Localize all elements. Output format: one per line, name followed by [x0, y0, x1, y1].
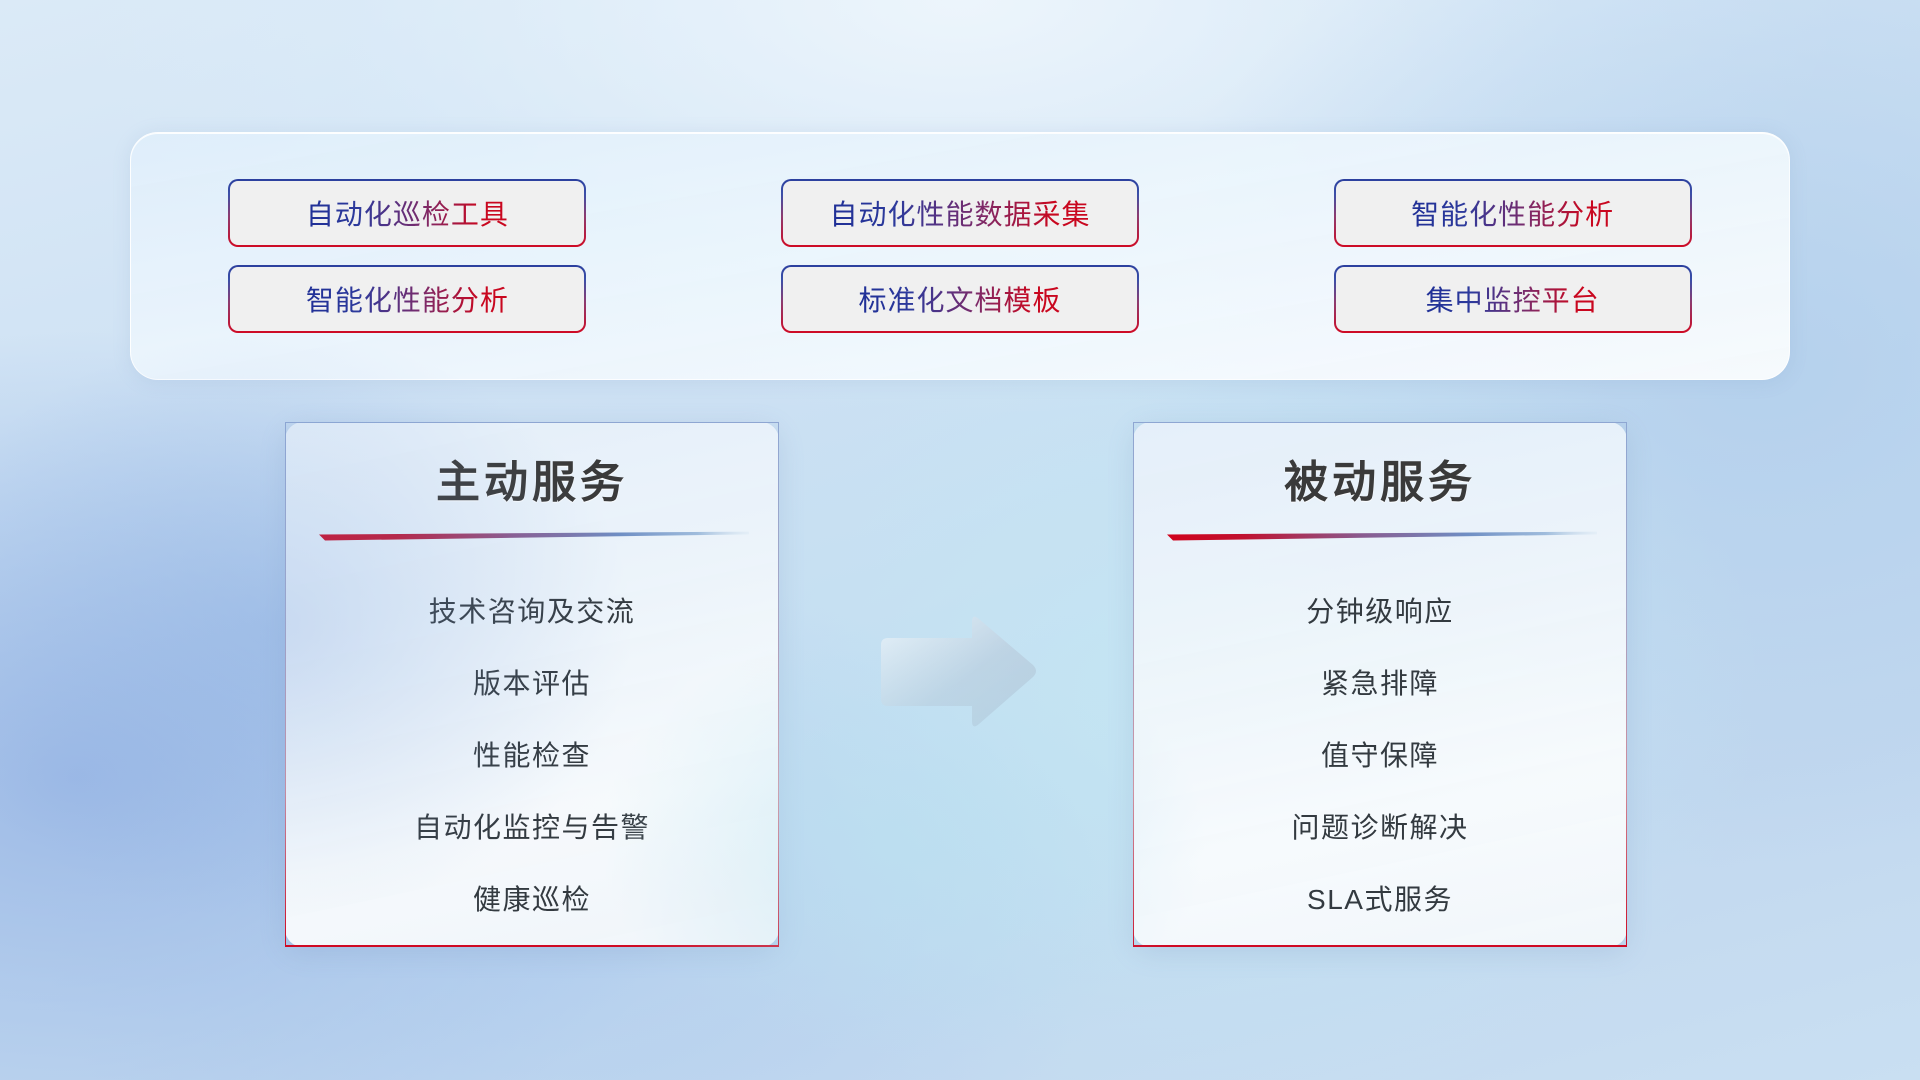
- capability-pill[interactable]: 自动化巡检工具: [228, 179, 586, 247]
- list-item: SLA式服务: [1307, 864, 1453, 936]
- capability-pill-label: 自动化性能数据采集: [829, 193, 1090, 233]
- list-item: 性能检查: [473, 720, 591, 792]
- capability-pill-label: 标准化文档模板: [858, 279, 1061, 319]
- list-item: 版本评估: [473, 648, 591, 720]
- active-service-card-inner: 主动服务: [286, 423, 778, 945]
- active-service-card: 主动服务: [285, 422, 779, 947]
- list-item: 值守保障: [1321, 720, 1439, 792]
- passive-service-card: 被动服务: [1133, 422, 1627, 947]
- slide-canvas: 自动化巡检工具 自动化性能数据采集 智能化性能分析 智能化性能分析 标准化文档模…: [0, 0, 1920, 1080]
- list-item: 问题诊断解决: [1291, 792, 1468, 864]
- list-item: 紧急排障: [1321, 648, 1439, 720]
- right-arrow-icon: [875, 612, 1040, 732]
- passive-service-title: 被动服务: [1284, 457, 1476, 510]
- capabilities-panel: 自动化巡检工具 自动化性能数据采集 智能化性能分析 智能化性能分析 标准化文档模…: [130, 132, 1790, 380]
- list-item: 分钟级响应: [1306, 576, 1454, 648]
- capability-pill[interactable]: 智能化性能分析: [1334, 179, 1692, 247]
- capability-pill-label: 智能化性能分析: [1411, 193, 1614, 233]
- capability-row-1: 自动化巡检工具 自动化性能数据采集 智能化性能分析: [131, 170, 1789, 256]
- active-service-title: 主动服务: [436, 457, 628, 510]
- list-item: 技术咨询及交流: [429, 576, 636, 648]
- capability-pill[interactable]: 标准化文档模板: [781, 265, 1139, 333]
- capability-row-2: 智能化性能分析 标准化文档模板 集中监控平台: [131, 256, 1789, 342]
- capability-pill[interactable]: 自动化性能数据采集: [781, 179, 1139, 247]
- list-item: 健康巡检: [473, 864, 591, 936]
- passive-service-list: 分钟级响应 紧急排障 值守保障 问题诊断解决 SLA式服务: [1134, 576, 1626, 936]
- active-service-list: 技术咨询及交流 版本评估 性能检查 自动化监控与告警 健康巡检: [286, 576, 778, 936]
- capability-pill-label: 集中监控平台: [1426, 279, 1600, 319]
- active-service-divider: [319, 530, 749, 542]
- capability-pill[interactable]: 智能化性能分析: [228, 265, 586, 333]
- capability-pill-label: 智能化性能分析: [306, 279, 509, 319]
- passive-service-divider: [1167, 530, 1597, 542]
- passive-service-card-inner: 被动服务: [1134, 423, 1626, 945]
- capability-pill[interactable]: 集中监控平台: [1334, 265, 1692, 333]
- list-item: 自动化监控与告警: [414, 792, 650, 864]
- capability-pill-label: 自动化巡检工具: [306, 193, 509, 233]
